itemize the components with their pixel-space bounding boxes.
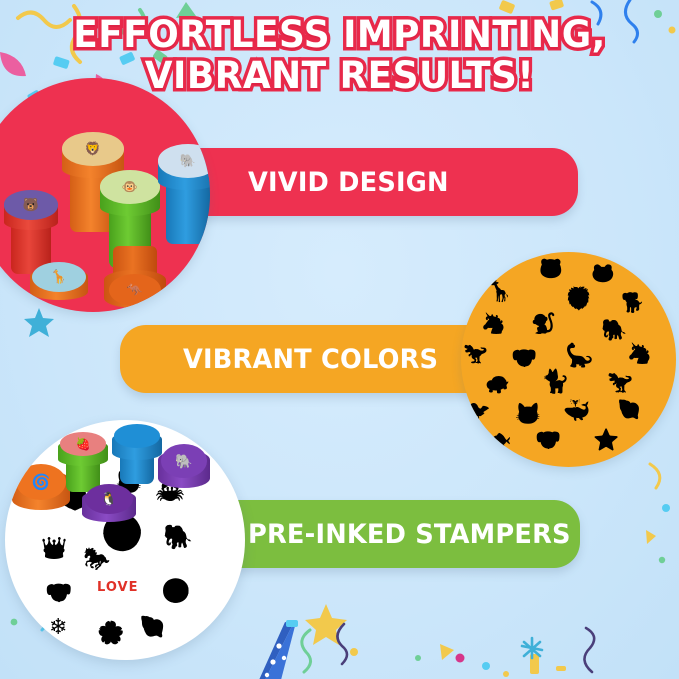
- imprint-19-icon: 🐟: [489, 430, 511, 448]
- stamper-glyph: 🐧: [101, 491, 117, 507]
- imprint-6-icon: 🐒: [531, 314, 556, 334]
- stamper-face-blue: [114, 424, 160, 448]
- stamp-face-imprint: 🦘: [109, 274, 161, 306]
- feature-label-vibrant-colors: VIBRANT COLORS: [183, 344, 438, 375]
- stamper-face-green: 🍓: [60, 432, 106, 456]
- imprint-pattern-orange: 🦒🐻🐸🦄🦁🐕🐒🐘🦖🐶🦕🦄🐢🐈🦖🐦🐱🐳🐚🐟🐶⭐: [461, 252, 676, 467]
- imprint-5-icon: 🐎: [83, 548, 110, 570]
- stamper-purple: 🐘: [157, 438, 211, 490]
- stamp-face-green: 🐵: [100, 170, 160, 204]
- imprint-9-icon: 🐶: [511, 348, 537, 369]
- headline-line-2: VIBRANT RESULTS!: [10, 55, 669, 96]
- stamp-face-blue: 🐘: [158, 144, 210, 178]
- imprint-7-icon: 🐘: [601, 320, 627, 341]
- imprint-15-icon: 🐦: [467, 402, 491, 421]
- feature-banner-pre-inked-stampers[interactable]: PRE-INKED STAMPERS: [215, 500, 580, 568]
- imprint-1-icon: 🐻: [539, 260, 563, 279]
- imprint-13-icon: 🐈: [541, 370, 570, 393]
- imprint-6-icon: 👑: [41, 538, 67, 559]
- imprint-20-icon: 🐶: [535, 430, 561, 451]
- stamp-animal-icon: 🐵: [122, 179, 138, 195]
- imprint-5-icon: 🐕: [621, 294, 645, 313]
- imprint-8-icon: 🦖: [463, 344, 488, 364]
- stamp-orange-tipped: 🦘: [102, 246, 168, 310]
- imprint-14-icon: 🦖: [607, 372, 633, 393]
- stamp-animal-icon: 🦒: [51, 269, 67, 285]
- imprint-0-icon: 🦒: [487, 282, 512, 302]
- imprint-12-icon: 🐢: [485, 374, 510, 394]
- star-decor-left: [22, 306, 56, 340]
- stamper-face-purple-flat: 🐧: [85, 484, 133, 514]
- imprint-9-icon: ❄: [49, 616, 67, 638]
- promo-banner: EFFORTLESS IMPRINTING, VIBRANT RESULTS! …: [0, 0, 679, 679]
- stamp-red: 🐻: [4, 178, 58, 274]
- stamper-face-purple: 🐘: [161, 444, 207, 478]
- feature-image-vivid-design: 🐻 🦁 🐵 🐘 🦒: [0, 78, 210, 312]
- stamp-animal-icon: 🐻: [23, 197, 39, 213]
- imprint-11-icon: 🐚: [139, 616, 166, 638]
- confetti-right-edge: [640, 460, 679, 580]
- stamper-purple-flat: 🐧: [81, 482, 137, 522]
- imprint-10-icon: 🌸: [97, 622, 124, 644]
- stamper-glyph: 🍓: [76, 437, 91, 451]
- feature-image-vibrant-colors: 🦒🐻🐸🦄🦁🐕🐒🐘🦖🐶🦕🦄🐢🐈🦖🐦🐱🐳🐚🐟🐶⭐: [461, 252, 676, 467]
- feature-label-pre-inked-stampers: PRE-INKED STAMPERS: [248, 519, 571, 550]
- imprint-17-icon: 🐳: [563, 400, 590, 422]
- stamper-blue: [111, 422, 163, 484]
- stamper-glyph: 🐘: [175, 453, 192, 470]
- headline: EFFORTLESS IMPRINTING, VIBRANT RESULTS!: [0, 14, 679, 96]
- imprint-2-icon: 🐸: [591, 264, 615, 283]
- imprint-10-icon: 🦕: [565, 344, 594, 367]
- imprint-18-icon: 🐚: [617, 400, 642, 420]
- imprint-16-icon: 🐱: [515, 404, 541, 425]
- feature-image-pre-inked-stampers: 🏀🐘🦀🐱🎁🐎👑🐶😀❄🌸🐚🌀 LOVE 🌀 🍓 🐘: [5, 420, 245, 660]
- imprint-1-icon: 🐘: [163, 526, 193, 550]
- stamp-animal-icon: 🦘: [127, 282, 143, 298]
- stamp-face-giraffe: 🦒: [32, 262, 86, 292]
- stamp-animal-icon: 🐘: [180, 153, 196, 169]
- feature-label-vivid-design: VIVID DESIGN: [248, 167, 449, 198]
- imprint-11-icon: 🦄: [627, 344, 652, 364]
- feature-banner-vivid-design[interactable]: VIVID DESIGN: [184, 148, 578, 216]
- confetti-bottom: [300, 600, 679, 679]
- stamp-animal-icon: 🦁: [85, 141, 101, 157]
- imprint-8-icon: 😀: [161, 580, 191, 604]
- stamp-orange-flat: 🦒: [30, 262, 88, 300]
- party-hat-icon: [255, 620, 325, 679]
- imprint-7-icon: 🐶: [45, 582, 72, 604]
- stamper-glyph: 🌀: [32, 473, 51, 491]
- imprint-21-icon: ⭐: [593, 430, 619, 451]
- headline-line-1: EFFORTLESS IMPRINTING,: [10, 14, 669, 55]
- stamp-blue: 🐘: [158, 134, 210, 244]
- stamp-face-red: 🐻: [4, 190, 58, 220]
- imprint-text-love: LOVE: [97, 580, 138, 595]
- imprint-4-icon: 🦁: [565, 288, 592, 310]
- imprint-3-icon: 🦄: [481, 314, 506, 334]
